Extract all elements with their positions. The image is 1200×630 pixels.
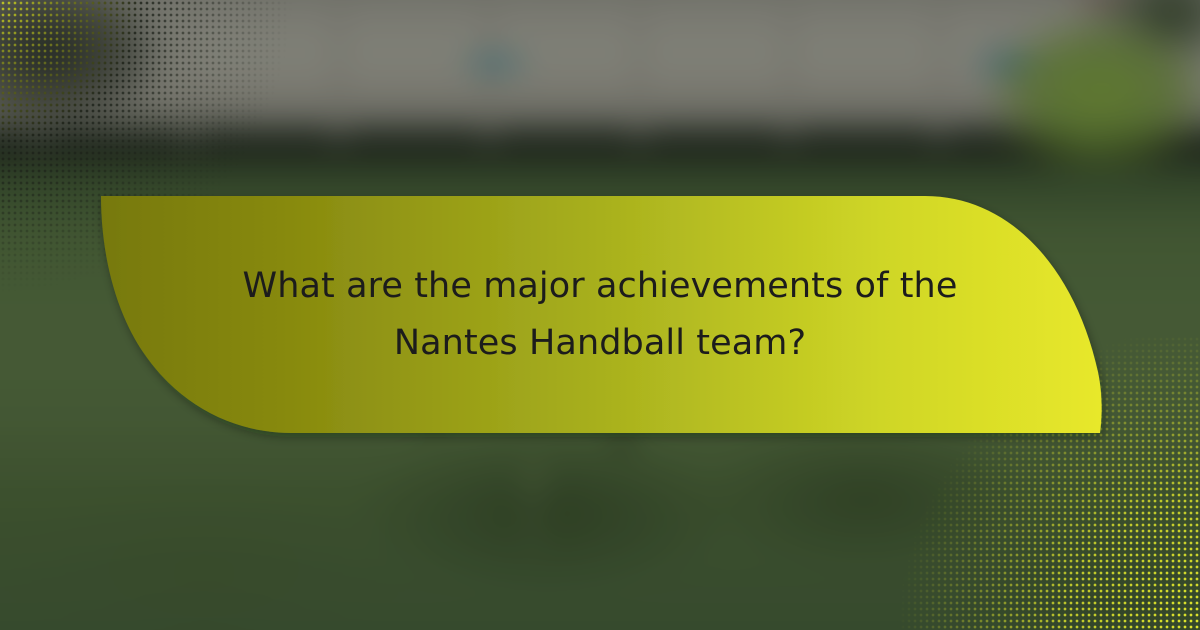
question-text: What are the major achievements of the N… [180,196,1020,434]
screenshot-canvas: What are the major achievements of the N… [0,0,1200,630]
question-line-2: Nantes Handball team? [394,315,806,372]
question-card: What are the major achievements of the N… [0,0,1200,630]
question-line-1: What are the major achievements of the [243,258,958,315]
